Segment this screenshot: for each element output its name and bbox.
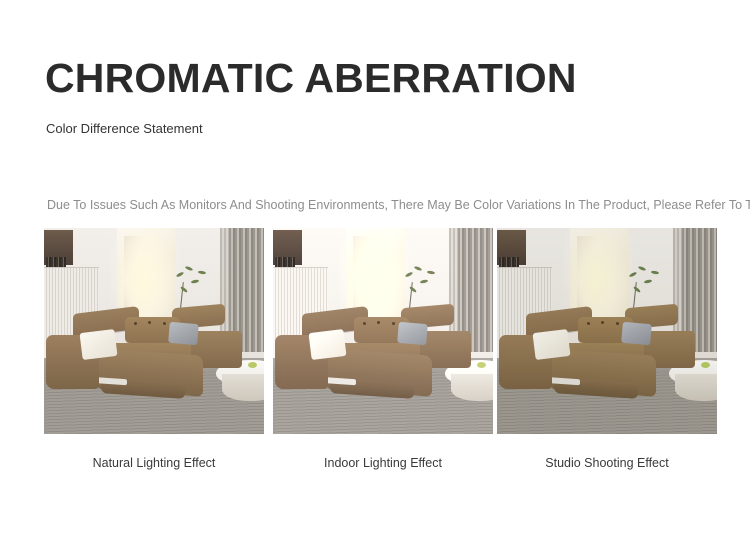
throw-pillow-white	[533, 329, 571, 360]
product-detail-page: CHROMATIC ABERRATION Color Difference St…	[0, 0, 750, 535]
lighting-comparison-gallery	[44, 228, 750, 434]
throw-pillow-gray	[622, 322, 652, 345]
image-caption-natural-lighting: Natural Lighting Effect	[44, 454, 264, 472]
image-caption-studio-shooting: Studio Shooting Effect	[497, 454, 717, 472]
sofa-scene-illustration	[497, 228, 717, 434]
throw-pillow-white	[80, 329, 118, 360]
sofa-scene-illustration	[44, 228, 264, 434]
product-image-indoor-lighting[interactable]	[273, 228, 493, 434]
page-subtitle: Color Difference Statement	[46, 120, 203, 138]
image-caption-indoor-lighting: Indoor Lighting Effect	[273, 454, 493, 472]
throw-pillow-white	[309, 329, 347, 360]
coffee-table-base	[675, 374, 717, 401]
coffee-table-base	[222, 374, 264, 401]
product-image-studio-shooting[interactable]	[497, 228, 717, 434]
coffee-table-base	[451, 374, 493, 401]
color-variation-notice: Due To Issues Such As Monitors And Shoot…	[47, 197, 750, 214]
throw-pillow-gray	[169, 322, 199, 345]
page-title: CHROMATIC ABERRATION	[45, 56, 577, 100]
throw-pillow-gray	[398, 322, 428, 345]
product-image-natural-lighting[interactable]	[44, 228, 264, 434]
sofa-scene-illustration	[273, 228, 493, 434]
